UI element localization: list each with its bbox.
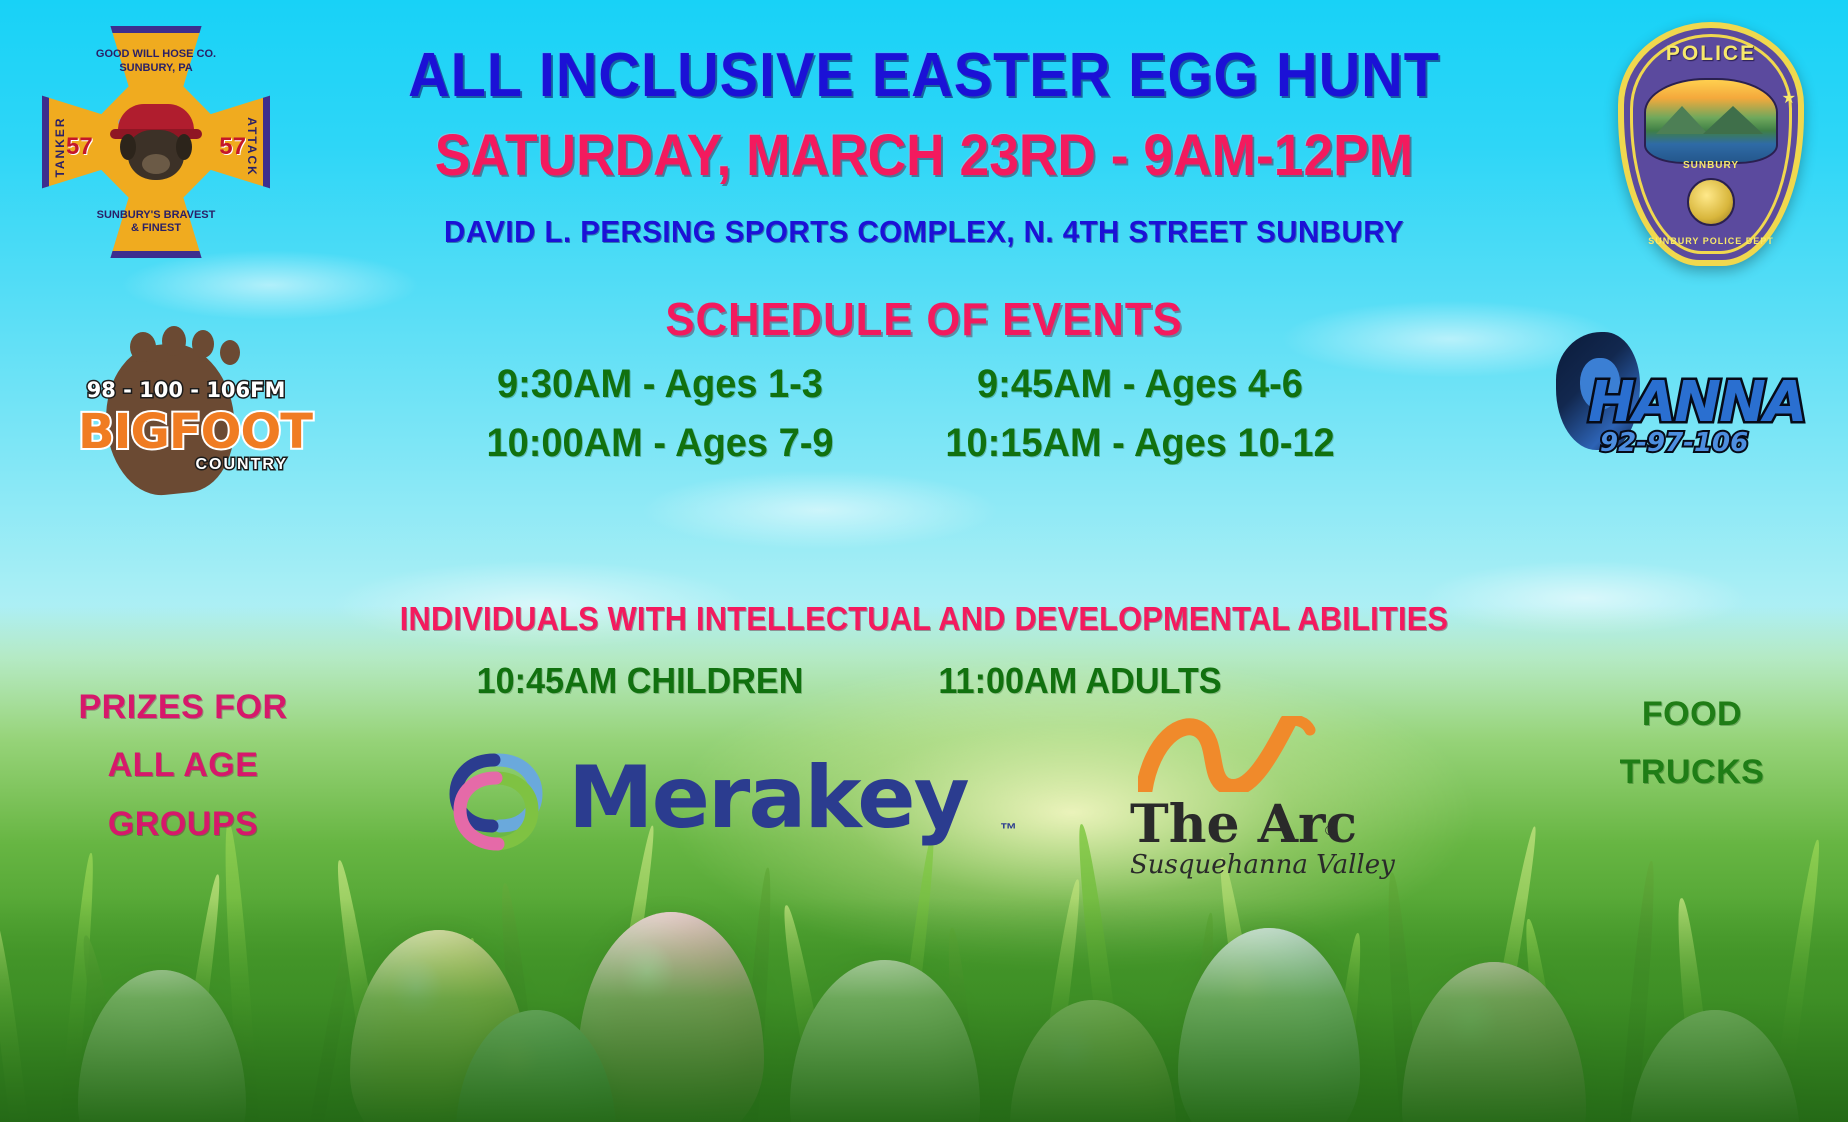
prizes-line-2: ALL AGE bbox=[58, 736, 308, 794]
prizes-note: PRIZES FOR ALL AGE GROUPS bbox=[58, 678, 308, 853]
schedule-item: 9:45AM - Ages 4-6 bbox=[912, 362, 1368, 407]
idd-times-grid: 10:45AM CHILDREN 11:00AM ADULTS bbox=[420, 660, 1300, 702]
flyer-date-time: SATURDAY, MARCH 23RD - 9AM-12PM bbox=[74, 122, 1774, 189]
flyer-venue: DAVID L. PERSING SPORTS COMPLEX, N. 4TH … bbox=[46, 214, 1802, 250]
food-line-2: TRUCKS bbox=[1582, 743, 1802, 801]
easter-egg-hunt-flyer: GOOD WILL HOSE CO. SUNBURY, PA TANKER AT… bbox=[0, 0, 1848, 1122]
idd-time-item: 10:45AM CHILDREN bbox=[431, 660, 849, 702]
schedule-heading: SCHEDULE OF EVENTS bbox=[46, 292, 1802, 346]
schedule-item: 10:15AM - Ages 10-12 bbox=[912, 421, 1368, 466]
idd-heading: INDIVIDUALS WITH INTELLECTUAL AND DEVELO… bbox=[65, 600, 1784, 638]
flyer-title: ALL INCLUSIVE EASTER EGG HUNT bbox=[65, 40, 1784, 111]
prizes-line-1: PRIZES FOR bbox=[58, 678, 308, 736]
flyer-text-content: ALL INCLUSIVE EASTER EGG HUNT SATURDAY, … bbox=[0, 0, 1848, 1122]
prizes-line-3: GROUPS bbox=[58, 795, 308, 853]
idd-time-item: 11:00AM ADULTS bbox=[871, 660, 1289, 702]
schedule-item: 9:30AM - Ages 1-3 bbox=[432, 362, 888, 407]
schedule-grid: 9:30AM - Ages 1-3 9:45AM - Ages 4-6 10:0… bbox=[420, 362, 1380, 466]
schedule-item: 10:00AM - Ages 7-9 bbox=[432, 421, 888, 466]
food-line-1: FOOD bbox=[1582, 685, 1802, 743]
food-trucks-note: FOOD TRUCKS bbox=[1582, 685, 1802, 802]
